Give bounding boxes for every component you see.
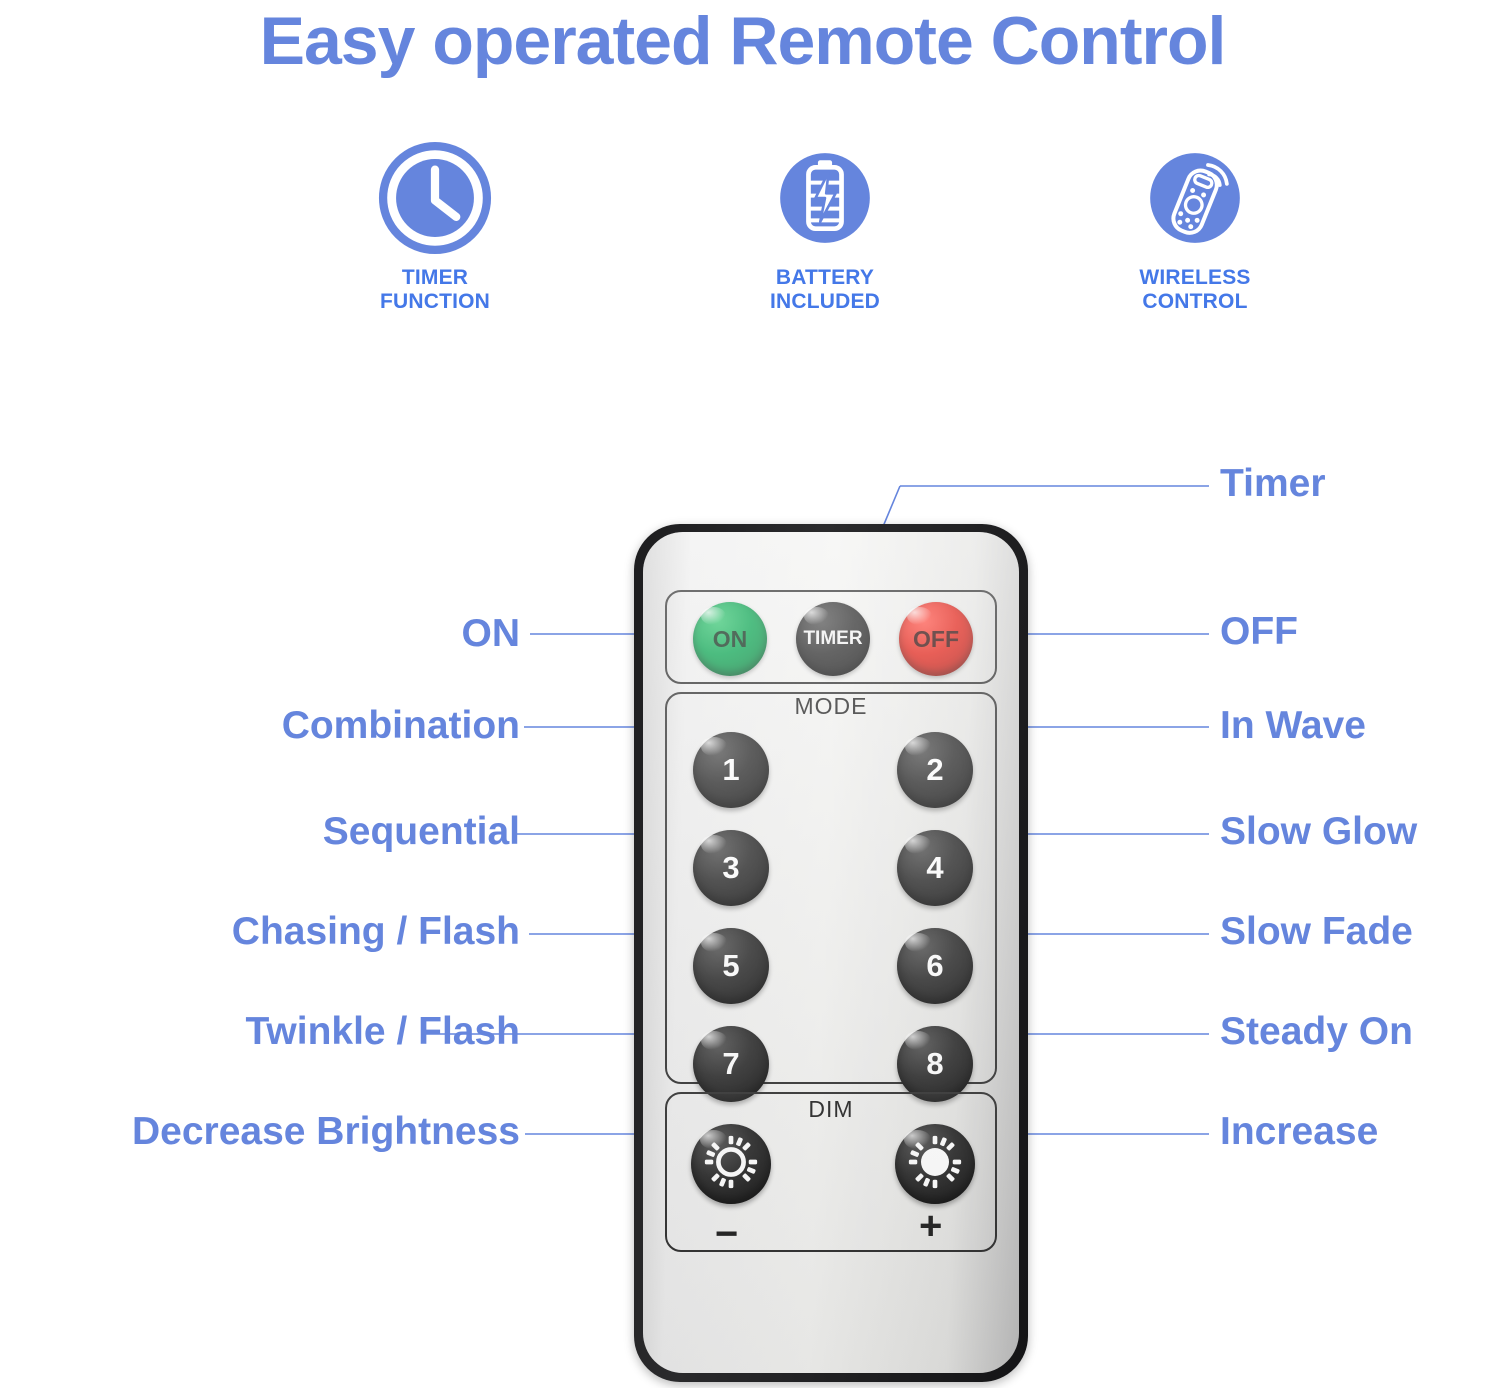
mode-button-6[interactable]: 6 xyxy=(897,928,973,1004)
callout-chasing-flash: Chasing / Flash xyxy=(232,912,520,951)
dim-minus-label: − xyxy=(715,1214,738,1254)
callout-decrease-brightness: Decrease Brightness xyxy=(132,1112,520,1151)
callout-timer: Timer xyxy=(1220,464,1326,503)
callout-off: OFF xyxy=(1220,612,1298,651)
callout-steady-on: Steady On xyxy=(1220,1012,1413,1051)
feature-timer-function: TIMER FUNCTION xyxy=(310,135,560,314)
callout-slow-fade: Slow Fade xyxy=(1220,912,1413,951)
mode-button-panel: MODE 1 2 3 4 5 6 7 8 xyxy=(665,692,997,1084)
callout-twinkle-flash: Twinkle / Flash xyxy=(245,1012,520,1051)
battery-icon xyxy=(700,135,950,260)
callout-sequential: Sequential xyxy=(323,812,520,851)
feature-label: BATTERY INCLUDED xyxy=(700,266,950,314)
callout-on: ON xyxy=(462,614,521,653)
dim-button-panel: DIM xyxy=(665,1092,997,1252)
mode-button-label: 6 xyxy=(926,948,943,984)
mode-button-label: 5 xyxy=(722,948,739,984)
mode-button-label: 2 xyxy=(926,752,943,788)
mode-button-label: 1 xyxy=(722,752,739,788)
infographic-page: Easy operated Remote Control TIMER FUNCT… xyxy=(0,0,1485,1388)
remote-wireless-icon xyxy=(1070,135,1320,260)
timer-button-label: TIMER xyxy=(803,628,862,650)
on-button-label: ON xyxy=(713,626,748,653)
feature-battery-included: BATTERY INCLUDED xyxy=(700,135,950,314)
page-title: Easy operated Remote Control xyxy=(0,2,1485,80)
clock-icon xyxy=(310,135,560,260)
dim-plus-label: + xyxy=(919,1206,942,1246)
mode-button-4[interactable]: 4 xyxy=(897,830,973,906)
on-button[interactable]: ON xyxy=(693,602,767,676)
mode-button-3[interactable]: 3 xyxy=(693,830,769,906)
mode-button-5[interactable]: 5 xyxy=(693,928,769,1004)
dim-down-button[interactable] xyxy=(691,1124,771,1204)
mode-button-label: 4 xyxy=(926,850,943,886)
feature-wireless-control: WIRELESS CONTROL xyxy=(1070,135,1320,314)
mode-button-2[interactable]: 2 xyxy=(897,732,973,808)
mode-panel-caption: MODE xyxy=(667,693,995,720)
off-button-label: OFF xyxy=(913,626,959,653)
remote-control-device: ON TIMER OFF MODE 1 2 3 4 xyxy=(634,524,1028,1382)
callout-increase: Increase xyxy=(1220,1112,1378,1151)
feature-label: WIRELESS CONTROL xyxy=(1070,266,1320,314)
mode-button-8[interactable]: 8 xyxy=(897,1026,973,1102)
callout-slow-glow: Slow Glow xyxy=(1220,812,1417,851)
dim-up-button[interactable] xyxy=(895,1124,975,1204)
callout-in-wave: In Wave xyxy=(1220,706,1366,745)
dim-panel-caption: DIM xyxy=(667,1096,995,1123)
remote-faceplate: ON TIMER OFF MODE 1 2 3 4 xyxy=(643,532,1019,1373)
feature-badges: TIMER FUNCTION BATTERY INCLUDED xyxy=(300,135,1360,325)
mode-button-7[interactable]: 7 xyxy=(693,1026,769,1102)
mode-button-label: 8 xyxy=(926,1046,943,1082)
sun-dim-icon xyxy=(703,1134,759,1195)
callout-combination: Combination xyxy=(282,706,520,745)
mode-button-label: 7 xyxy=(722,1046,739,1082)
mode-button-label: 3 xyxy=(722,850,739,886)
power-button-panel: ON TIMER OFF xyxy=(665,590,997,684)
mode-button-1[interactable]: 1 xyxy=(693,732,769,808)
feature-label: TIMER FUNCTION xyxy=(310,266,560,314)
sun-bright-icon xyxy=(907,1134,963,1195)
timer-button[interactable]: TIMER xyxy=(796,602,870,676)
off-button[interactable]: OFF xyxy=(899,602,973,676)
